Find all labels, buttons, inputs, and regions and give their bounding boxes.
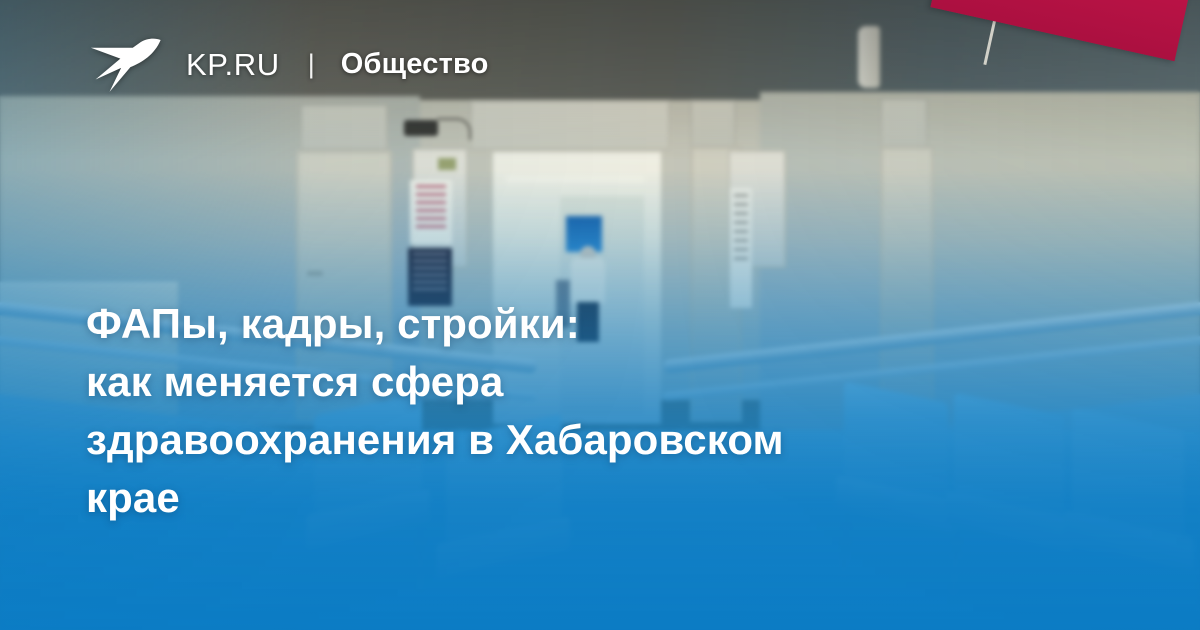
- headline-line-2: как меняется сфера: [86, 353, 1106, 411]
- header-divider: |: [308, 51, 315, 78]
- share-card: России KP.RU | Общество ФАПы, кадры, стр…: [0, 0, 1200, 630]
- brand-name[interactable]: KP.RU: [186, 49, 280, 80]
- rubric-label[interactable]: Общество: [341, 50, 489, 79]
- card-header: KP.RU | Общество: [86, 33, 489, 95]
- headline-line-3: здравоохранения в Хабаровском: [86, 411, 1106, 469]
- headline-line-1: ФАПы, кадры, стройки:: [86, 295, 1106, 353]
- headline-line-4: крае: [86, 469, 1106, 527]
- headline: ФАПы, кадры, стройки: как меняется сфера…: [86, 295, 1106, 527]
- swallow-bird-icon[interactable]: [86, 33, 164, 95]
